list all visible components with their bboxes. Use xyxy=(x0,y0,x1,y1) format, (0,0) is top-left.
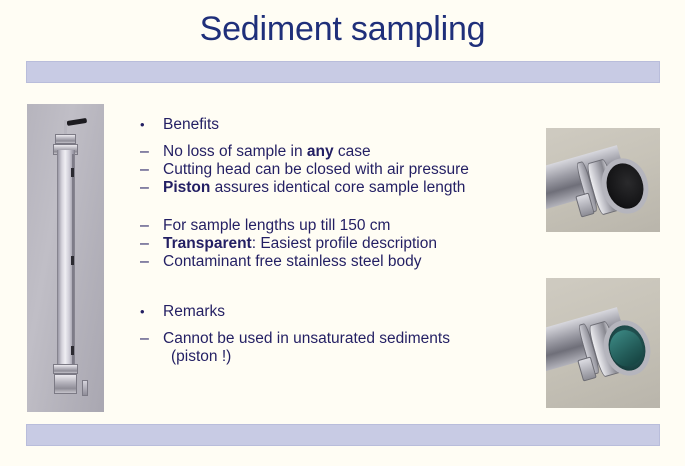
bullet-marker-icon: • xyxy=(140,116,162,134)
bottom-collar-shape xyxy=(53,364,78,374)
dash-marker-icon: – xyxy=(140,161,162,179)
valve-handle-shape xyxy=(67,118,88,126)
line-text: Cutting head can be closed with air pres… xyxy=(140,161,469,179)
decorative-bar-bottom xyxy=(26,424,660,446)
slide-canvas: Sediment sampling •Benefits–No loss of s… xyxy=(0,0,685,466)
cutting-head-shape xyxy=(54,374,77,394)
dash-marker-icon: – xyxy=(140,217,162,235)
dash-item: –Contaminant free stainless steel body xyxy=(140,253,540,271)
line-text: Transparent: Easiest profile description xyxy=(140,235,437,253)
dash-marker-icon: – xyxy=(140,143,162,161)
bullet-item: •Benefits xyxy=(140,116,540,134)
dash-marker-icon: – xyxy=(140,253,162,271)
cutting-head-open-photo xyxy=(546,128,660,232)
rod-mark-shape xyxy=(71,346,74,355)
sediment-sampler-tube-photo xyxy=(27,104,104,412)
accessory-part-shape xyxy=(82,380,88,396)
line-text: Contaminant free stainless steel body xyxy=(140,253,421,271)
line-text: Piston assures identical core sample len… xyxy=(140,179,465,197)
plain-text: (piston !) xyxy=(171,348,231,365)
page-title: Sediment sampling xyxy=(0,7,685,51)
dash-item: –Piston assures identical core sample le… xyxy=(140,179,540,197)
decorative-bar-top xyxy=(26,61,660,83)
cutting-head-closed-photo xyxy=(546,278,660,408)
dash-item: –Cutting head can be closed with air pre… xyxy=(140,161,540,179)
dash-item: –No loss of sample in any case xyxy=(140,143,540,161)
body-text-block: •Benefits–No loss of sample in any case–… xyxy=(140,116,540,366)
dash-marker-icon: – xyxy=(140,179,162,197)
continuation-line: (piston !) xyxy=(140,348,540,366)
line-text: No loss of sample in any case xyxy=(140,143,371,161)
plain-text: case xyxy=(334,143,371,160)
line-text: Cannot be used in unsaturated sediments xyxy=(140,330,450,348)
plain-text: : Easiest profile description xyxy=(252,235,437,252)
plain-text: Benefits xyxy=(163,116,219,133)
plain-text: Contaminant free stainless steel body xyxy=(163,253,421,270)
line-text: For sample lengths up till 150 cm xyxy=(140,217,390,235)
plain-text: No loss of sample in xyxy=(163,143,307,160)
plain-text: Cutting head can be closed with air pres… xyxy=(163,161,469,178)
emphasis-text: Transparent xyxy=(163,235,252,252)
bullet-item: •Remarks xyxy=(140,303,540,321)
rod-mark-shape xyxy=(71,168,74,177)
bullet-marker-icon: • xyxy=(140,303,162,321)
dash-item: –Transparent: Easiest profile descriptio… xyxy=(140,235,540,253)
plain-text: For sample lengths up till 150 cm xyxy=(163,217,390,234)
dash-marker-icon: – xyxy=(140,330,162,348)
rod-mark-shape xyxy=(71,256,74,265)
emphasis-text: Piston xyxy=(163,179,210,196)
line-text: (piston !) xyxy=(140,348,231,366)
dash-item: –For sample lengths up till 150 cm xyxy=(140,217,540,235)
dash-marker-icon: – xyxy=(140,235,162,253)
plain-text: assures identical core sample length xyxy=(210,179,465,196)
plain-text: Remarks xyxy=(163,303,225,320)
plain-text: Cannot be used in unsaturated sediments xyxy=(163,330,450,347)
emphasis-text: any xyxy=(307,143,334,160)
dash-item: –Cannot be used in unsaturated sediments xyxy=(140,330,540,348)
top-cap-shape xyxy=(55,134,76,144)
